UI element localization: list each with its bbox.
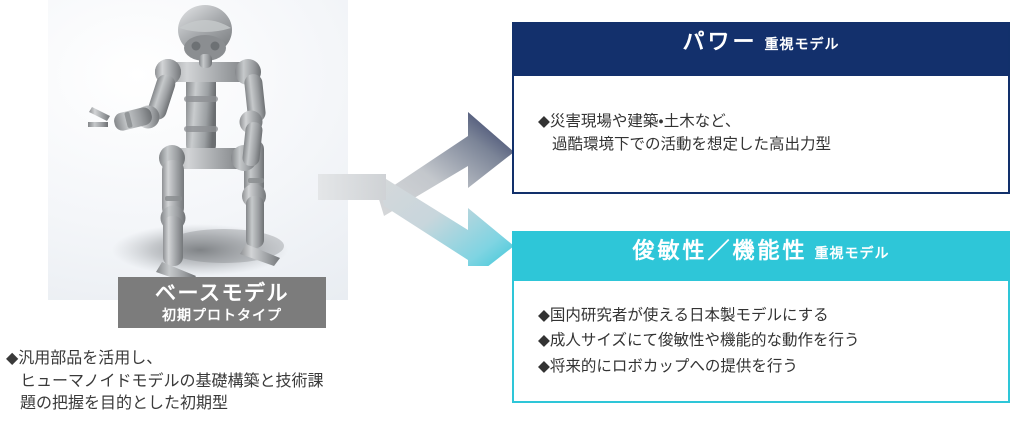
base-model-label: ベースモデル 初期プロトタイプ: [118, 277, 326, 328]
base-model-description-line-2: ヒューマノイドモデルの基礎構築と技術課: [6, 371, 406, 394]
arrow-stem: [318, 174, 386, 200]
card-agility-bullet-1: ◆国内研究者が使える日本製モデルにする: [526, 304, 1008, 327]
arrow-to-agility: [378, 174, 514, 266]
card-agility-bullet-3: ◆将来的にロボカップへの提供を行う: [526, 355, 1008, 378]
base-model-description-line-1: ◆汎用部品を活用し、: [6, 348, 406, 371]
card-agility[interactable]: 俊敏性／機能性 重視モデル ◆国内研究者が使える日本製モデルにする ◆成人サイズ…: [512, 231, 1010, 403]
forking-arrow: [318, 96, 528, 266]
humanoid-robot-cad-render: [48, 0, 348, 300]
card-power-header-suffix: 重視モデル: [765, 34, 840, 54]
card-agility-body: ◆国内研究者が使える日本製モデルにする ◆成人サイズにて俊敏性や機能的な動作を行…: [514, 281, 1008, 401]
card-agility-header: 俊敏性／機能性 重視モデル: [514, 233, 1008, 281]
robot-image-panel: [48, 0, 348, 300]
base-model-description: ◆汎用部品を活用し、 ヒューマノイドモデルの基礎構築と技術課 題の把握を目的とし…: [6, 348, 406, 416]
card-power-body: ◆災害現場や建築・土木など、 過酷環境下での活動を想定した高出力型: [514, 76, 1008, 190]
card-power-bullet-1: ◆災害現場や建築・土木など、 過酷環境下での活動を想定した高出力型: [526, 110, 1008, 157]
robot-head: [178, 5, 232, 68]
card-agility-bullet-2: ◆成人サイズにて俊敏性や機能的な動作を行う: [526, 329, 1008, 352]
base-model-description-line-3: 題の把握を目的とした初期型: [6, 393, 406, 416]
card-agility-header-suffix: 重視モデル: [815, 243, 890, 263]
card-power-header-main: パワー: [682, 24, 757, 56]
card-power[interactable]: パワー 重視モデル ◆災害現場や建築・土木など、 過酷環境下での活動を想定した高…: [512, 22, 1010, 194]
slide-canvas: ベースモデル 初期プロトタイプ ◆汎用部品を活用し、 ヒューマノイドモデルの基礎…: [0, 0, 1024, 430]
card-agility-header-main: 俊敏性／機能性: [632, 233, 807, 265]
base-model-title: ベースモデル: [155, 283, 289, 305]
base-model-subtitle: 初期プロトタイプ: [162, 308, 282, 323]
robot-left-arm: [88, 59, 181, 132]
card-power-header: パワー 重視モデル: [514, 24, 1008, 76]
